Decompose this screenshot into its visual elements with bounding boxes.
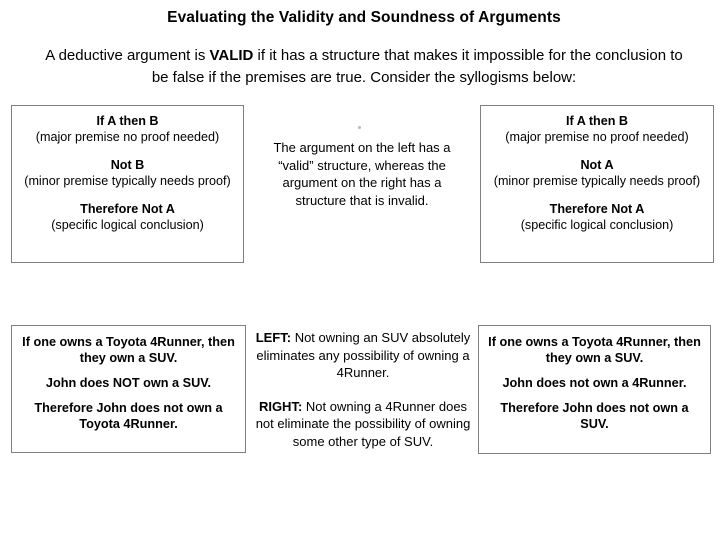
stray-dot-mark [358, 126, 361, 129]
example-conclusion: Therefore John does not own a Toyota 4Ru… [12, 400, 245, 432]
statement-sub: (specific logical conclusion) [487, 217, 707, 233]
spacer [479, 391, 710, 400]
spacer [12, 145, 243, 157]
statement-head: If A then B [18, 113, 237, 129]
statement-conclusion: Therefore Not A (specific logical conclu… [481, 201, 713, 233]
lead-text-before: A deductive argument is [45, 47, 209, 64]
bottom-middle-note: LEFT: Not owning an SUV absolutely elimi… [252, 329, 474, 450]
statement-sub: (major premise no proof needed) [18, 129, 237, 145]
bottom-left-statements: If one owns a Toyota 4Runner, then they … [12, 326, 245, 432]
statement-major-premise: If A then B (major premise no proof need… [12, 113, 243, 145]
statement-minor-premise: Not A (minor premise typically needs pro… [481, 157, 713, 189]
note-paragraph-right: RIGHT: Not owning a 4Runner does not eli… [252, 398, 474, 451]
page-title: Evaluating the Validity and Soundness of… [0, 8, 728, 28]
top-left-argument-box: If A then B (major premise no proof need… [11, 105, 244, 263]
statement-head: Therefore Not A [18, 201, 237, 217]
note-label-left: LEFT: [256, 330, 291, 345]
statement-major-premise: If A then B (major premise no proof need… [481, 113, 713, 145]
spacer [12, 189, 243, 201]
bottom-left-argument-box: If one owns a Toyota 4Runner, then they … [11, 325, 246, 453]
top-left-statements: If A then B (major premise no proof need… [12, 106, 243, 233]
statement-minor-premise: Not B (minor premise typically needs pro… [12, 157, 243, 189]
spacer [479, 366, 710, 375]
statement-sub: (minor premise typically needs proof) [18, 173, 237, 189]
top-right-statements: If A then B (major premise no proof need… [481, 106, 713, 233]
bottom-right-argument-box: If one owns a Toyota 4Runner, then they … [478, 325, 711, 454]
example-conclusion: Therefore John does not own a SUV. [479, 400, 710, 432]
example-minor-premise: John does not own a 4Runner. [479, 375, 710, 391]
statement-head: If A then B [487, 113, 707, 129]
lead-paragraph: A deductive argument is VALID if it has … [44, 45, 684, 89]
statement-head: Not A [487, 157, 707, 173]
slide-canvas: Evaluating the Validity and Soundness of… [0, 0, 728, 546]
statement-sub: (minor premise typically needs proof) [487, 173, 707, 189]
spacer [12, 366, 245, 375]
top-right-argument-box: If A then B (major premise no proof need… [480, 105, 714, 263]
bottom-right-statements: If one owns a Toyota 4Runner, then they … [479, 326, 710, 432]
example-major-premise: If one owns a Toyota 4Runner, then they … [12, 334, 245, 366]
note-label-right: RIGHT: [259, 399, 302, 414]
spacer [12, 391, 245, 400]
spacer [481, 189, 713, 201]
top-middle-note: The argument on the left has a “valid” s… [256, 139, 468, 209]
example-minor-premise: John does NOT own a SUV. [12, 375, 245, 391]
statement-conclusion: Therefore Not A (specific logical conclu… [12, 201, 243, 233]
lead-emphasis-valid: VALID [210, 47, 254, 64]
example-major-premise: If one owns a Toyota 4Runner, then they … [479, 334, 710, 366]
statement-head: Therefore Not A [487, 201, 707, 217]
statement-sub: (specific logical conclusion) [18, 217, 237, 233]
spacer [481, 145, 713, 157]
note-paragraph-left: LEFT: Not owning an SUV absolutely elimi… [252, 329, 474, 382]
statement-sub: (major premise no proof needed) [487, 129, 707, 145]
statement-head: Not B [18, 157, 237, 173]
